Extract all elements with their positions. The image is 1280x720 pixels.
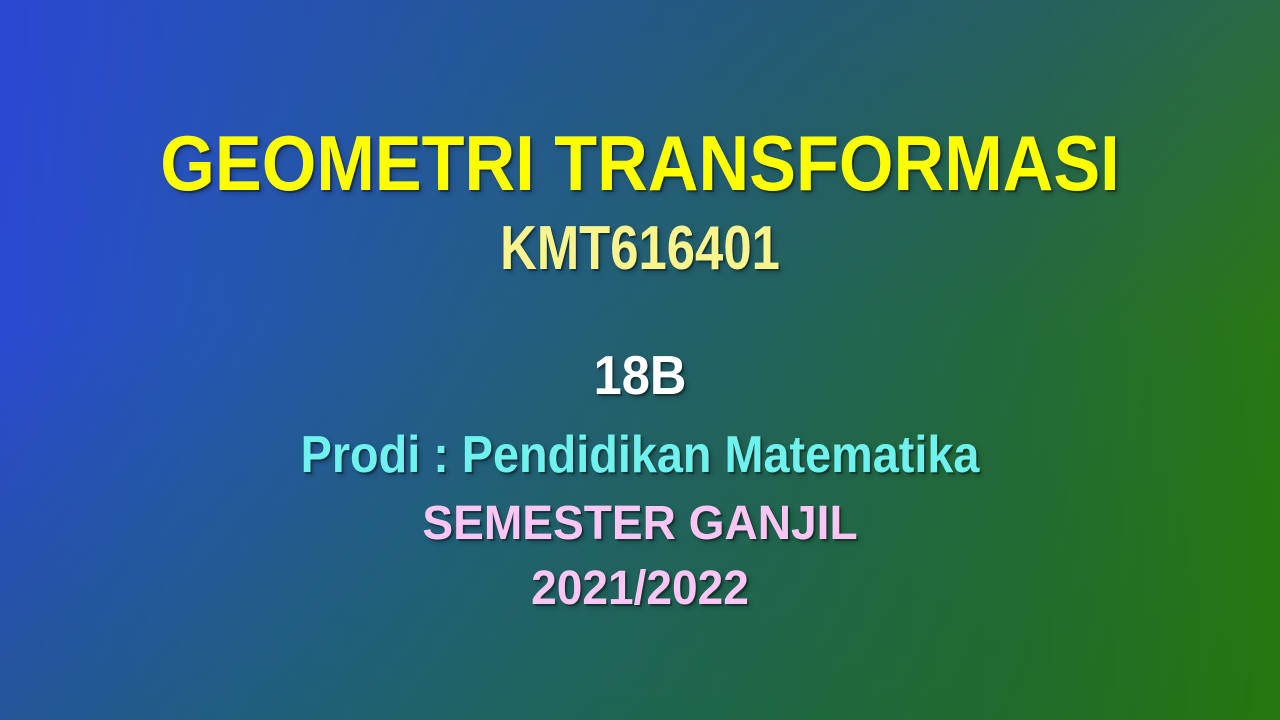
course-code: KMT616401 <box>115 218 1165 280</box>
title-slide: GEOMETRI TRANSFORMASI KMT616401 18B Prod… <box>0 0 1280 720</box>
course-title: GEOMETRI TRANSFORMASI <box>64 124 1216 202</box>
study-program-label: Prodi : Pendidikan Matematika <box>64 429 1216 481</box>
semester-label: SEMESTER GANJIL <box>26 500 1255 548</box>
class-code: 18B <box>51 348 1229 403</box>
academic-year-label: 2021/2022 <box>26 565 1255 613</box>
